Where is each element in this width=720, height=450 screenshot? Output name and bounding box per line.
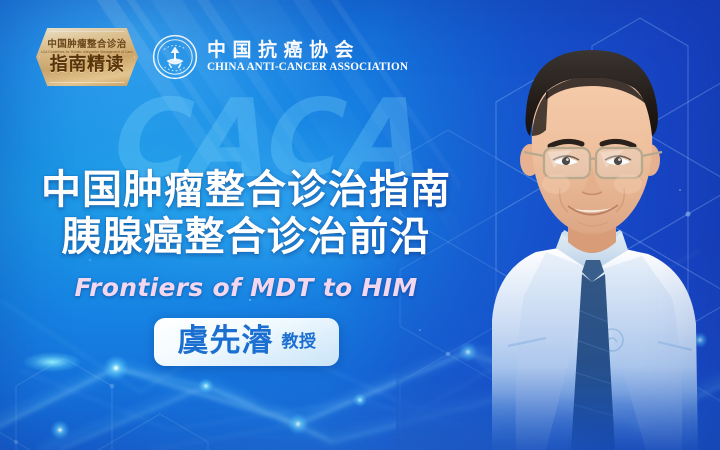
- guideline-badge-inner: 中国肿瘤整合诊治 CACA Guidelines for Holistic In…: [39, 31, 135, 83]
- speaker-academic-title: 教授: [282, 327, 317, 354]
- speaker-name-pill: 虞先濬 教授: [154, 318, 339, 367]
- banner-header: 中国肿瘤整合诊治 CACA Guidelines for Holistic In…: [36, 28, 408, 86]
- caca-name-en: CHINA ANTI-CANCER ASSOCIATION: [207, 62, 408, 73]
- title-block: 中国肿瘤整合诊治指南 胰腺癌整合诊治前沿 Frontiers of MDT to…: [0, 168, 492, 366]
- caca-name-cn: 中国抗癌协会: [207, 41, 408, 61]
- guideline-badge: 中国肿瘤整合诊治 CACA Guidelines for Holistic In…: [36, 28, 138, 86]
- guideline-badge-subtitle-cn: 中国肿瘤整合诊治: [47, 40, 126, 50]
- speaker-pill-wrap: 虞先濬 教授: [0, 318, 492, 367]
- caca-emblem-icon: [152, 34, 198, 80]
- guideline-badge-subtitle-en: CACA Guidelines for Holistic Integrative…: [38, 51, 136, 54]
- speaker-name: 虞先濬: [178, 324, 274, 359]
- banner-stage: CACA: [0, 0, 720, 450]
- caca-association-logo: 中国抗癌协会 CHINA ANTI-CANCER ASSOCIATION: [152, 34, 408, 80]
- page-title-line-2: 胰腺癌整合诊治前沿: [0, 215, 492, 260]
- page-title-line-1: 中国肿瘤整合诊治指南: [0, 168, 492, 213]
- caca-logo-text: 中国抗癌协会 CHINA ANTI-CANCER ASSOCIATION: [207, 41, 408, 73]
- page-subtitle-en: Frontiers of MDT to HIM: [0, 273, 492, 302]
- guideline-badge-title: 指南精读: [50, 55, 124, 74]
